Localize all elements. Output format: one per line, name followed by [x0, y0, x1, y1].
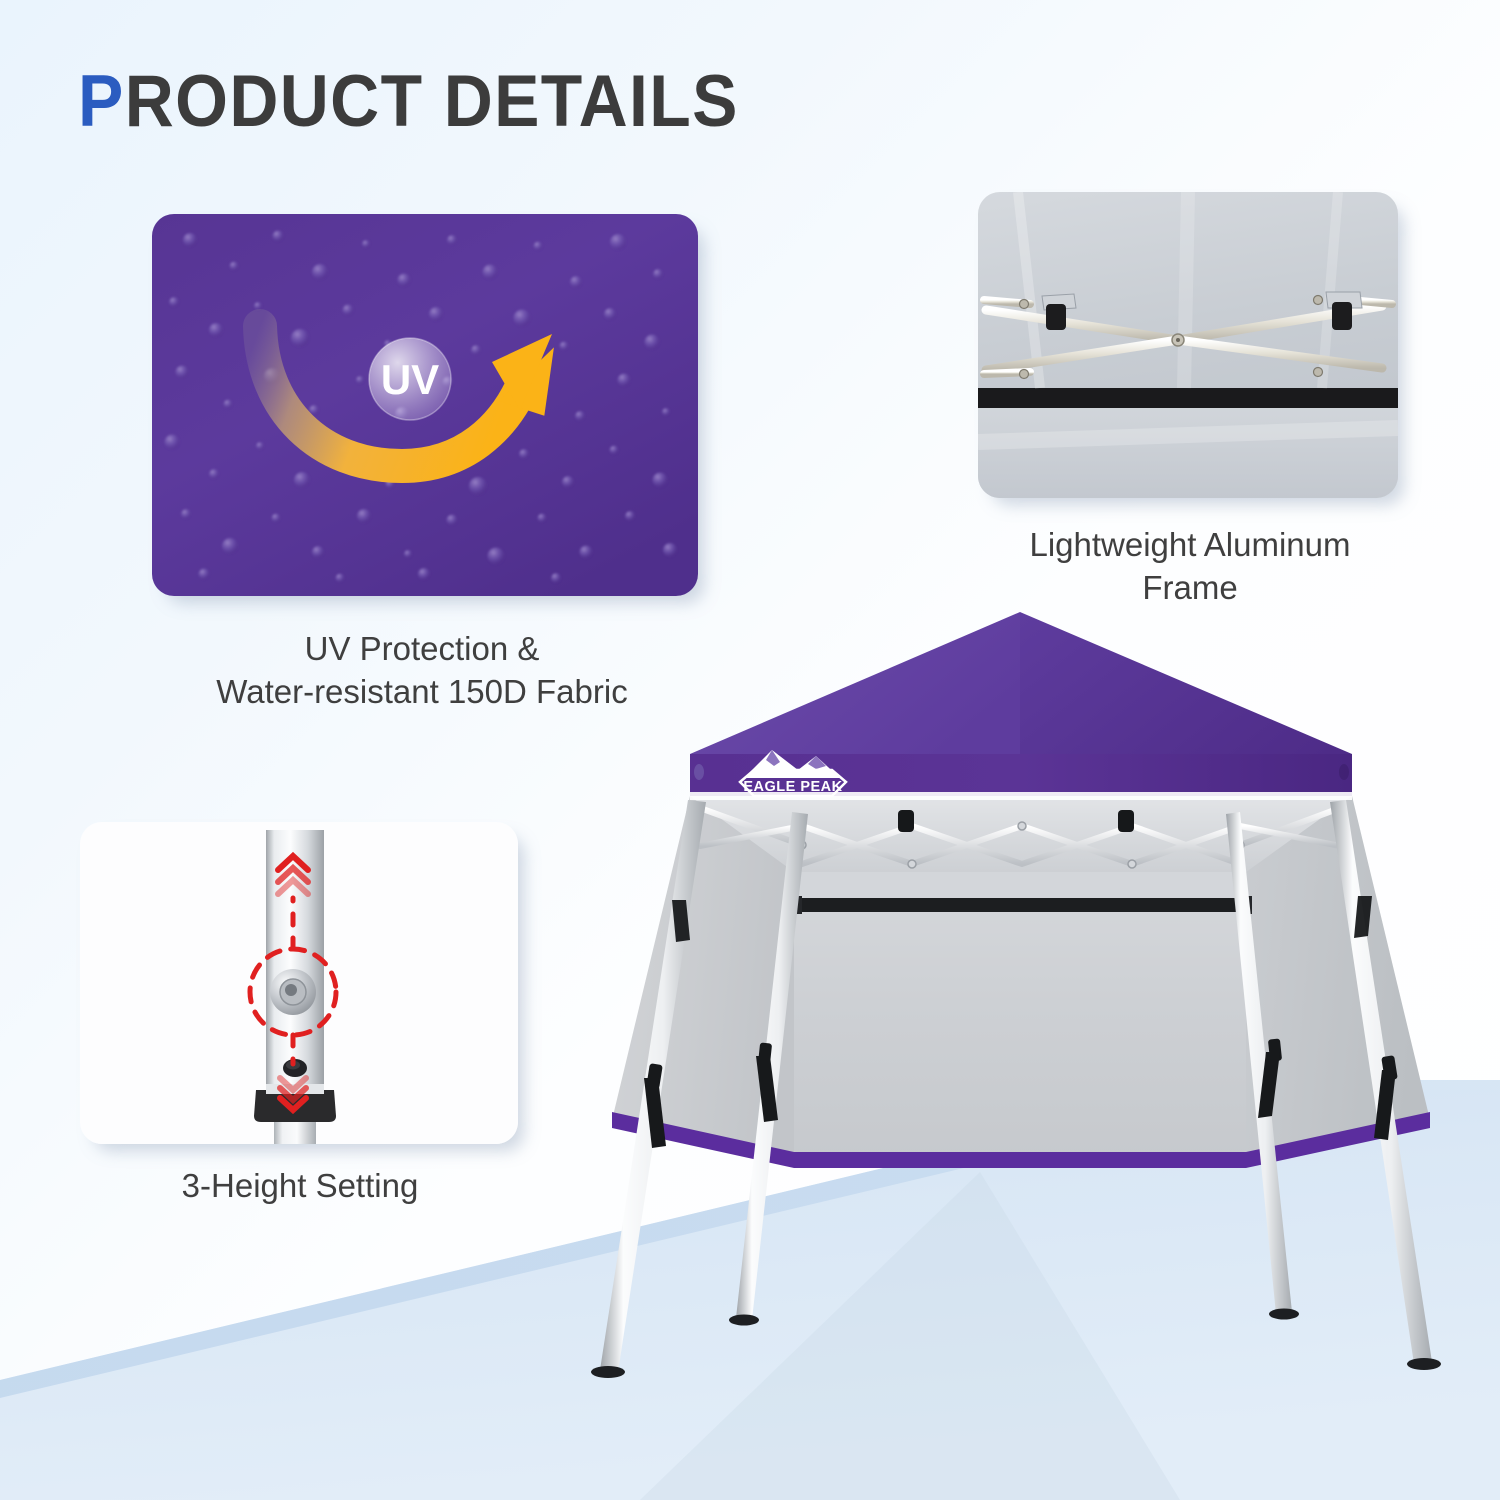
feature-image-height-setting [80, 822, 518, 1144]
eave-bar [794, 898, 1246, 912]
brand-logo-text: EAGLE PEAK [743, 779, 842, 795]
page-title-accent: P [78, 61, 125, 142]
uv-badge: UV [369, 338, 451, 420]
page-title: PRODUCT DETAILS [78, 60, 739, 143]
feature-image-uv-fabric: UV [152, 214, 698, 596]
leg-foot-pads [591, 1309, 1441, 1379]
height-caption-line-1: 3-Height Setting [60, 1165, 540, 1208]
uv-badge-label: UV [381, 356, 439, 403]
feature-caption-aluminum-frame: Lightweight Aluminum Frame [930, 524, 1450, 610]
infographic-stage: PRODUCT DETAILS [0, 0, 1500, 1500]
page-title-rest: RODUCT DETAILS [125, 61, 739, 142]
feature-image-aluminum-frame [978, 192, 1398, 498]
feature-caption-height-setting: 3-Height Setting [60, 1165, 540, 1208]
frame-caption-line-1: Lightweight Aluminum [930, 524, 1450, 567]
product-image-canopy: EAGLE PEAK [540, 600, 1500, 1430]
